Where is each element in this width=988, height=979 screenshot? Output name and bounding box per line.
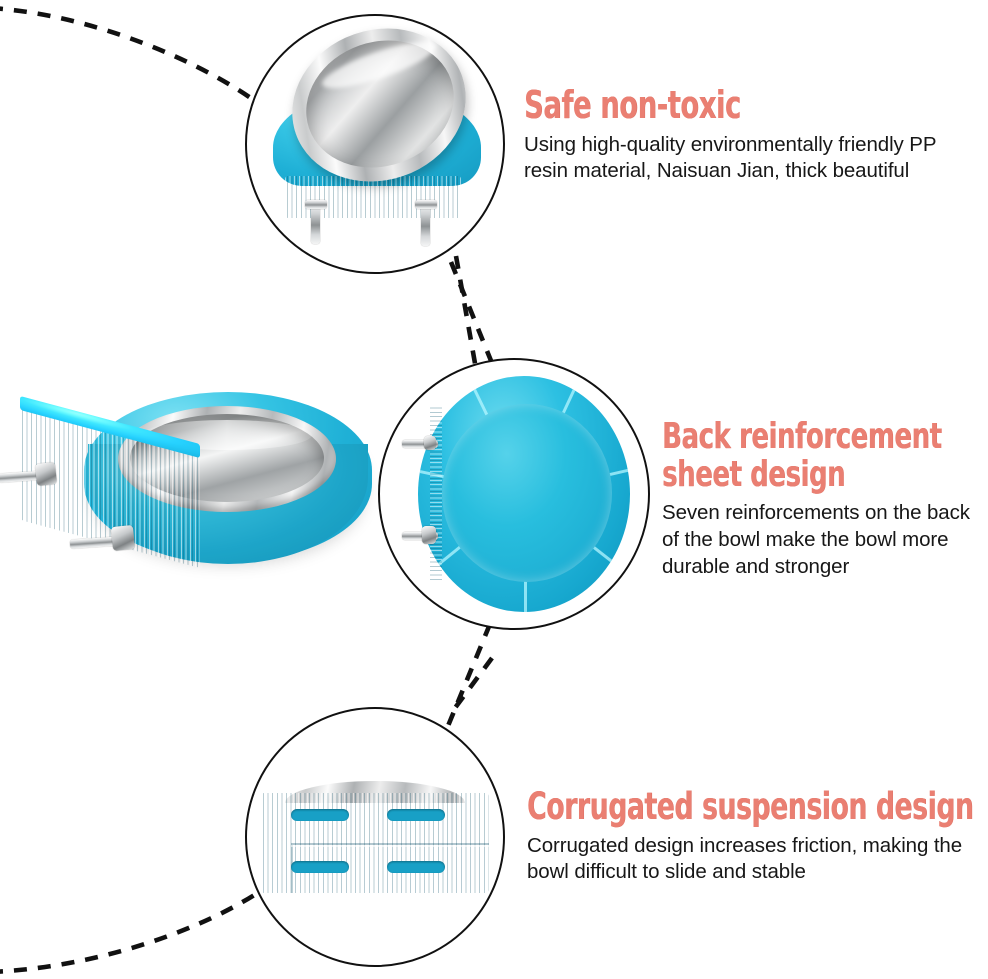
feature-headline: Safe non-toxic	[524, 86, 984, 125]
feature-headline: Back reinforcement sheet design	[662, 418, 984, 494]
infographic-canvas: Safe non-toxic Using high-quality enviro…	[0, 0, 988, 979]
feature-body: Using high-quality environmentally frien…	[524, 132, 976, 185]
feature-text-back-reinforcement: Back reinforcement sheet design Seven re…	[662, 418, 984, 580]
bracket-corrugated-edge	[430, 406, 442, 582]
hero-product-image	[0, 386, 392, 606]
keyhole-slot-upper-right	[387, 809, 445, 821]
callout-circle-safe-non-toxic	[245, 14, 505, 274]
hook-upper-head	[424, 436, 436, 450]
feature-headline: Corrugated suspension design	[527, 788, 987, 826]
keyhole-slot-lower-left	[291, 861, 349, 873]
feature-text-safe-non-toxic: Safe non-toxic Using high-quality enviro…	[524, 86, 984, 185]
dashed-curve-bottom-left	[0, 886, 268, 972]
tier-seam	[291, 845, 489, 847]
dashed-link-2-3	[452, 658, 492, 712]
hook-right-top	[415, 200, 437, 209]
tier-seam-shadow	[291, 843, 489, 845]
dashed-curve-top-left	[0, 8, 262, 106]
callout-circle-back-reinforcement	[378, 358, 650, 630]
wing-bolt-lower-head	[111, 525, 135, 551]
bowl-back-inner-plate	[442, 404, 612, 582]
feature-body: Corrugated design increases friction, ma…	[527, 833, 967, 886]
callout-circle-corrugated-suspension	[245, 707, 505, 967]
feature-text-corrugated-suspension: Corrugated suspension design Corrugated …	[527, 788, 987, 886]
keyhole-slot-upper-left	[291, 809, 349, 821]
feature-body: Seven reinforcements on the back of the …	[662, 500, 980, 580]
hook-left-top	[305, 200, 327, 209]
keyhole-slot-lower-right	[387, 861, 445, 873]
hook-lower-head	[422, 526, 436, 544]
wing-bolt-upper-head	[35, 462, 57, 486]
